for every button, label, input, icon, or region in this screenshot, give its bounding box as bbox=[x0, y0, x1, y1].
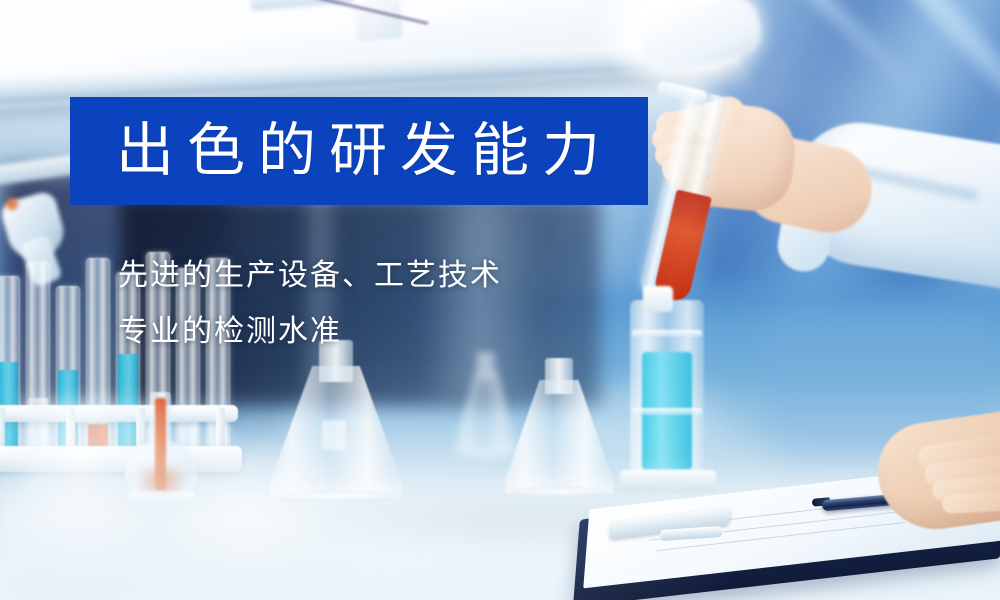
subtitle-line-1: 先进的生产设备、工艺技术 bbox=[118, 248, 502, 304]
cylinder-ring bbox=[632, 330, 702, 337]
hero-banner: 出色的研发能力 先进的生产设备、工艺技术 专业的检测水准 bbox=[0, 0, 1000, 600]
headline-text: 出色的研发能力 bbox=[116, 122, 613, 180]
subtitle-line-2: 专业的检测水准 bbox=[118, 304, 502, 360]
flask-label bbox=[322, 420, 346, 450]
microscope-indicator-icon bbox=[6, 198, 18, 210]
headline-box: 出色的研发能力 bbox=[70, 97, 648, 205]
subtitle-block: 先进的生产设备、工艺技术 专业的检测水准 bbox=[118, 248, 502, 360]
cylinder-cap bbox=[643, 286, 673, 312]
cylinder-ring bbox=[632, 408, 702, 415]
finger bbox=[942, 491, 1000, 514]
